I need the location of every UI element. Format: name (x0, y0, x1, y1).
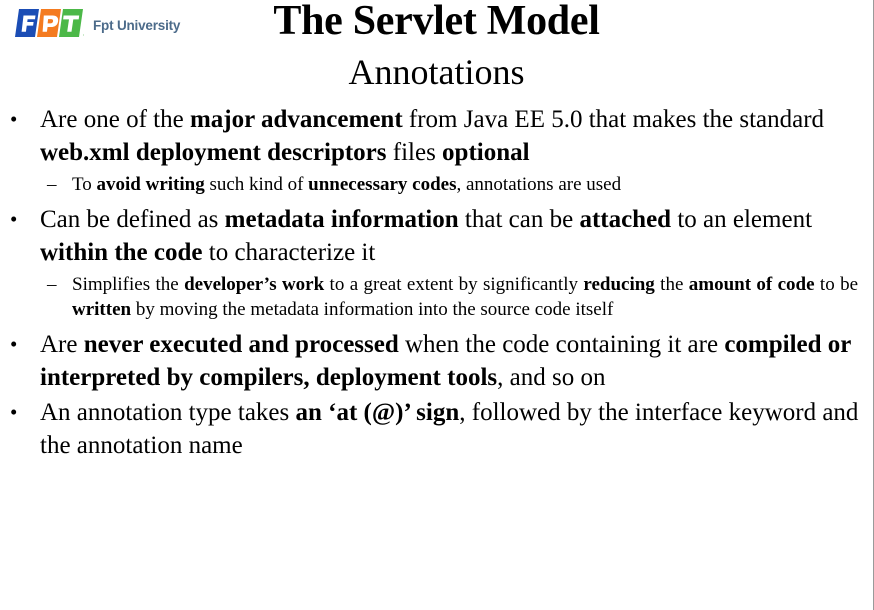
text-run: by moving the metadata information into … (131, 299, 613, 320)
emphasis-run: amount of code (689, 274, 815, 295)
dash-marker-icon: – (47, 172, 57, 198)
text-run: files (387, 139, 443, 166)
emphasis-run: optional (442, 139, 530, 166)
bullet-marker-icon: • (10, 103, 17, 136)
text-run: from Java EE 5.0 that makes the standard (403, 106, 824, 133)
text-run: to a great extent by significantly (324, 274, 583, 295)
bullet-text: Simplifies the developer’s work to a gre… (72, 274, 858, 321)
text-run: Are (40, 331, 84, 358)
emphasis-run: an ‘at (@)’ sign (296, 399, 460, 426)
text-run: , and so on (497, 364, 605, 391)
bullet-list: •Are one of the major advancement from J… (0, 103, 868, 464)
emphasis-run: never executed and processed (84, 331, 399, 358)
text-run: Can be defined as (40, 206, 225, 233)
bullet-item: •An annotation type takes an ‘at (@)’ si… (0, 396, 868, 462)
bullet-text: To avoid writing such kind of unnecessar… (72, 174, 621, 195)
emphasis-run: unnecessary codes (308, 174, 456, 195)
bullet-text: Are one of the major advancement from Ja… (40, 106, 824, 166)
emphasis-run: developer’s work (184, 274, 324, 295)
emphasis-run: avoid writing (97, 174, 205, 195)
slide-subtitle: Annotations (0, 52, 873, 92)
emphasis-run: attached (579, 206, 671, 233)
emphasis-run: reducing (583, 274, 654, 295)
emphasis-run: web.xml deployment descriptors (40, 139, 387, 166)
bullet-marker-icon: • (10, 203, 17, 236)
emphasis-run: metadata information (225, 206, 459, 233)
text-run: Simplifies the (72, 274, 184, 295)
text-run: the (655, 274, 689, 295)
text-run: , annotations are used (456, 174, 621, 195)
sub-bullet-item: –Simplifies the developer’s work to a gr… (0, 272, 868, 323)
bullet-marker-icon: • (10, 396, 17, 429)
emphasis-run: major advancement (190, 106, 403, 133)
text-run: An annotation type takes (40, 399, 296, 426)
bullet-text: An annotation type takes an ‘at (@)’ sig… (40, 399, 858, 459)
emphasis-run: within the code (40, 239, 203, 266)
text-run: such kind of (205, 174, 308, 195)
text-run: to an element (671, 206, 812, 233)
text-run: to be (815, 274, 858, 295)
bullet-text: Are never executed and processed when th… (40, 331, 851, 391)
text-run: to characterize it (203, 239, 376, 266)
text-run: Are one of the (40, 106, 190, 133)
bullet-item: •Can be defined as metadata information … (0, 203, 868, 269)
text-run: To (72, 174, 97, 195)
emphasis-run: written (72, 299, 131, 320)
slide-title: The Servlet Model (0, 0, 873, 45)
dash-marker-icon: – (47, 272, 57, 298)
sub-bullet-item: –To avoid writing such kind of unnecessa… (0, 172, 868, 198)
text-run: that can be (459, 206, 580, 233)
text-run: when the code containing it are (399, 331, 725, 358)
bullet-marker-icon: • (10, 328, 17, 361)
bullet-text: Can be defined as metadata information t… (40, 206, 812, 266)
bullet-item: •Are one of the major advancement from J… (0, 103, 868, 169)
bullet-item: •Are never executed and processed when t… (0, 328, 868, 394)
slide: Fpt University The Servlet Model Annotat… (0, 0, 874, 610)
